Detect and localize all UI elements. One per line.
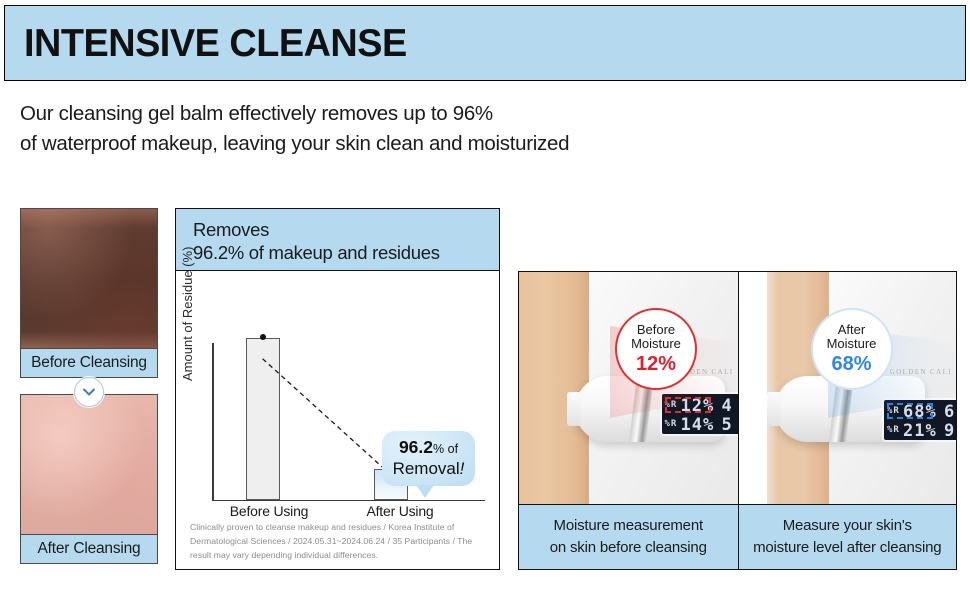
chart-x-axis: [212, 500, 485, 502]
chart-heading-line-1: Removes: [193, 218, 499, 241]
callout-exclamation: !: [460, 459, 465, 478]
callout-removal-word: Removal: [393, 459, 460, 478]
subheading-line-1: Our cleansing gel balm effectively remov…: [20, 99, 720, 129]
before-caption-line-1: Moisture measurement: [554, 515, 703, 537]
x-tick-after-using: After Using: [330, 503, 470, 519]
chevron-down-icon-wrap: [74, 377, 104, 407]
chart-x-tick-labels: Before Using After Using: [212, 503, 485, 523]
callout-value: 96.2: [399, 437, 433, 457]
callout-value-line: 96.2% of: [386, 438, 471, 458]
removal-callout-bubble: 96.2% of Removal!: [382, 431, 475, 486]
moisture-before-caption: Moisture measurement on skin before clea…: [519, 504, 738, 569]
callout-value-suffix: %: [433, 442, 444, 456]
display-extra-1: 6: [944, 402, 955, 422]
after-cleansing-photo: [21, 395, 157, 534]
page-header-banner: INTENSIVE CLEANSE: [4, 5, 966, 81]
chart-heading: Removes 96.2% of makeup and residues: [176, 209, 499, 271]
callout-line-2: Removal!: [386, 459, 471, 478]
after-badge-line-2: Moisture: [827, 337, 877, 351]
page-title: INTENSIVE CLEANSE: [24, 24, 407, 63]
display-label-2: %R: [887, 425, 900, 435]
before-cleansing-card: Before Cleansing: [20, 208, 158, 378]
after-caption-line-1: Measure your skin's: [783, 515, 912, 537]
chart-heading-line-2: 96.2% of makeup and residues: [193, 241, 499, 264]
moisture-comparison-panels: GOLDEN CALI %R 12% 4 %R 14% 5 Before Moi…: [518, 271, 957, 570]
subheading-text: Our cleansing gel balm effectively remov…: [20, 99, 720, 160]
before-cleansing-photo: [21, 209, 157, 348]
before-badge-line-1: Before: [637, 323, 675, 337]
device-probe-tip: [767, 392, 781, 426]
before-moisture-badge: Before Moisture 12%: [615, 308, 697, 390]
display-extra-2: 5: [722, 415, 733, 434]
device-display-after: %R 68% 6 %R 21% 9: [884, 400, 956, 440]
after-badge-line-1: After: [838, 323, 865, 337]
display-extra-1: 4: [722, 396, 733, 416]
moisture-after-caption: Measure your skin's moisture level after…: [739, 504, 957, 569]
moisture-after-photo: GOLDEN CALI %R 68% 6 %R 21% 9 After Mois…: [739, 272, 957, 504]
skin-comparison-column: Before Cleansing After Cleansing: [20, 208, 158, 564]
callout-bubble-tail: [416, 485, 434, 498]
after-moisture-badge: After Moisture 68%: [811, 308, 893, 390]
residue-chart-panel: Removes 96.2% of makeup and residues Amo…: [175, 208, 500, 570]
callout-value-tail: of: [444, 442, 458, 456]
forearm-skin: [519, 272, 589, 504]
display-secondary-after: 21%: [903, 421, 937, 440]
x-tick-before-using: Before Using: [199, 503, 339, 519]
before-badge-value: 12%: [636, 353, 676, 375]
data-point-before: [260, 334, 266, 340]
after-caption-line-2: moisture level after cleansing: [753, 537, 941, 559]
display-secondary-before: 14%: [681, 415, 715, 434]
display-label-2: %R: [665, 419, 678, 429]
device-probe-tip: [567, 392, 581, 426]
after-badge-value: 68%: [831, 353, 871, 375]
promo-page: INTENSIVE CLEANSE Our cleansing gel balm…: [0, 0, 970, 600]
chart-y-axis: [212, 343, 214, 501]
moisture-after-card: GOLDEN CALI %R 68% 6 %R 21% 9 After Mois…: [738, 272, 957, 569]
bar-before-using: [246, 338, 280, 500]
after-cleansing-card: After Cleansing: [20, 394, 158, 564]
chart-body: Amount of Residue (%) Before Using After…: [176, 271, 499, 569]
moisture-before-photo: GOLDEN CALI %R 12% 4 %R 14% 5 Before Moi…: [519, 272, 738, 504]
before-cleansing-label: Before Cleansing: [21, 348, 157, 377]
before-caption-line-2: on skin before cleansing: [550, 537, 707, 559]
chevron-down-icon: [74, 377, 104, 407]
chart-y-axis-label: Amount of Residue (%): [180, 247, 195, 381]
before-badge-line-2: Moisture: [631, 337, 681, 351]
display-extra-2: 9: [944, 421, 955, 440]
moisture-before-card: GOLDEN CALI %R 12% 4 %R 14% 5 Before Moi…: [519, 272, 738, 569]
chart-footnote: Clinically proven to cleanse makeup and …: [190, 521, 487, 563]
after-cleansing-label: After Cleansing: [21, 534, 157, 563]
subheading-line-2: of waterproof makeup, leaving your skin …: [20, 129, 720, 159]
